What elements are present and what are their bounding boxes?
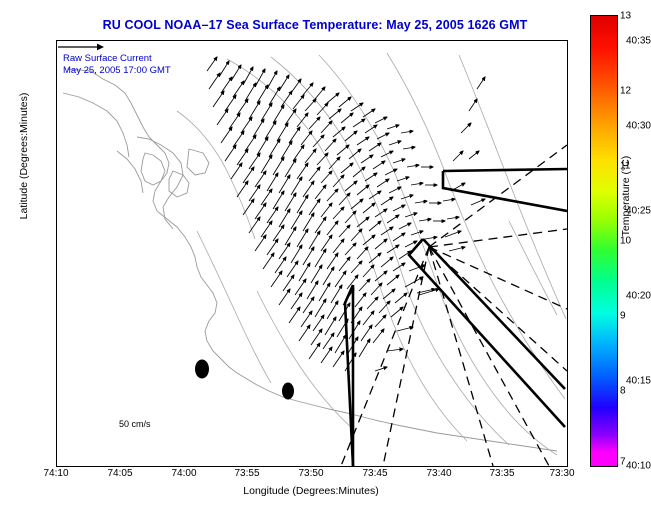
x-tick-7: 73:35 xyxy=(489,468,514,479)
map-canvas xyxy=(57,41,567,466)
x-tick-5: 73:45 xyxy=(362,468,387,479)
colorbar-tick-4: 9 xyxy=(620,311,626,322)
x-tick-8: 73:30 xyxy=(549,468,574,479)
annotation-raw-surface-current: Raw Surface Current xyxy=(63,53,152,64)
colorbar-label: Temperature (°C) xyxy=(620,136,632,256)
x-tick-3: 73:55 xyxy=(234,468,259,479)
colorbar xyxy=(590,15,618,467)
colorbar-tick-0: 13 xyxy=(620,11,631,22)
map-plot-area[interactable]: Raw Surface Current May 25, 2005 17:00 G… xyxy=(56,40,568,467)
y-axis-label: Latitude (Degrees:Minutes) xyxy=(18,46,30,266)
chart-title: RU COOL NOAA–17 Sea Surface Temperature:… xyxy=(60,18,570,32)
x-tick-0: 74:10 xyxy=(43,468,68,479)
scale-label: 50 cm/s xyxy=(119,419,151,429)
scale-arrow-icon xyxy=(57,41,107,53)
colorbar-tick-5: 8 xyxy=(620,386,626,397)
x-tick-1: 74:05 xyxy=(107,468,132,479)
x-axis-label: Longitude (Degrees:Minutes) xyxy=(56,485,566,497)
figure-root: RU COOL NOAA–17 Sea Surface Temperature:… xyxy=(0,0,651,515)
colorbar-tick-6: 7 xyxy=(620,457,626,468)
colorbar-tick-1: 12 xyxy=(620,86,631,97)
x-tick-6: 73:40 xyxy=(426,468,451,479)
annotation-timestamp: May 25, 2005 17:00 GMT xyxy=(63,65,171,76)
x-tick-4: 73:50 xyxy=(298,468,323,479)
x-tick-2: 74:00 xyxy=(171,468,196,479)
